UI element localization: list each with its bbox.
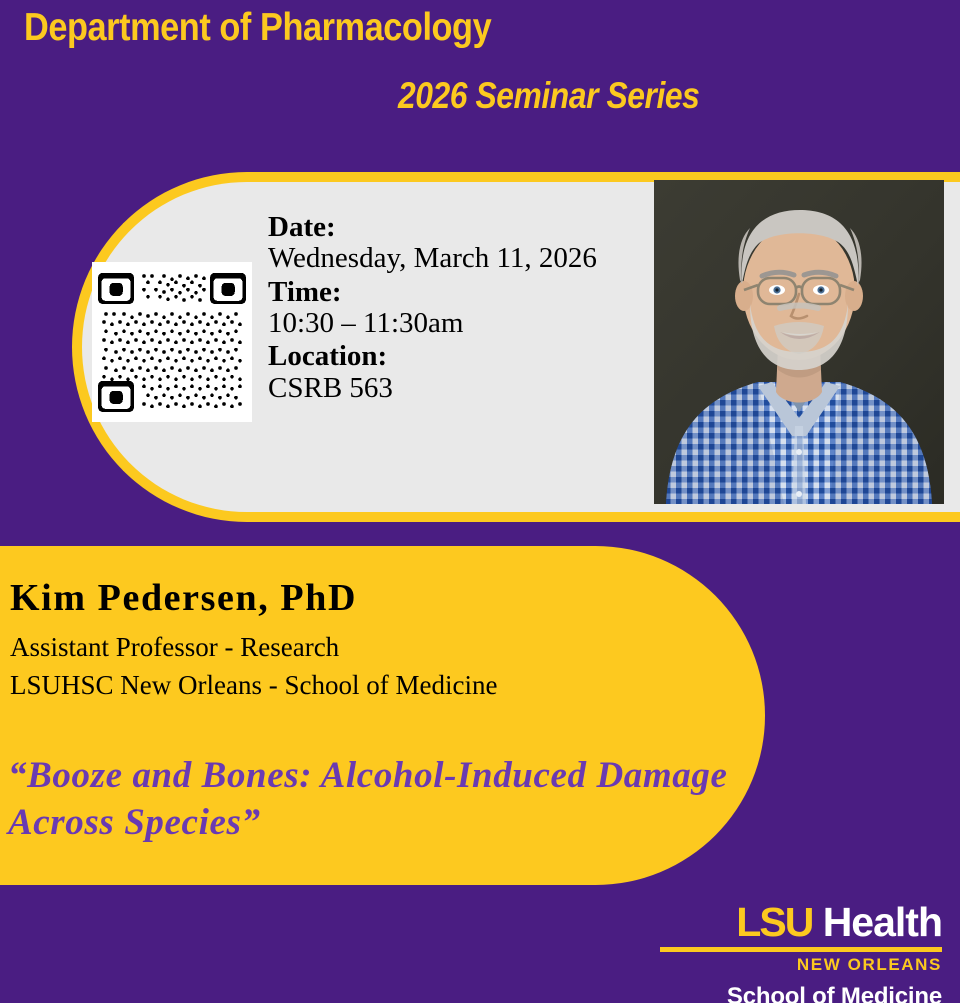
logo-wordmark: LSU Health <box>660 902 942 943</box>
speaker-headshot <box>654 180 944 504</box>
logo-divider-bar <box>660 947 942 952</box>
date-value: Wednesday, March 11, 2026 <box>268 243 598 274</box>
logo-health-text: Health <box>812 899 942 945</box>
date-label: Date: <box>268 212 598 243</box>
series-subtitle: 2026 Seminar Series <box>398 75 699 117</box>
speaker-title: Assistant Professor - Research <box>10 632 339 663</box>
speaker-name: Kim Pedersen, PhD <box>10 576 357 620</box>
page-title: Department of Pharmacology <box>24 6 491 50</box>
location-value: CSRB 563 <box>268 373 598 404</box>
logo-campus-text: NEW ORLEANS <box>660 955 942 975</box>
logo-lsu-text: LSU <box>736 899 812 945</box>
location-label: Location: <box>268 341 598 372</box>
speaker-affiliation: LSUHSC New Orleans - School of Medicine <box>10 670 497 701</box>
talk-title: “Booze and Bones: Alcohol-Induced Damage… <box>8 752 798 847</box>
seminar-poster: Department of Pharmacology 2026 Seminar … <box>0 0 960 1003</box>
lsu-health-logo: LSU Health NEW ORLEANS School of Medicin… <box>660 902 942 1003</box>
logo-school-text: School of Medicine <box>660 983 942 1003</box>
event-details: Date: Wednesday, March 11, 2026 Time: 10… <box>268 210 598 404</box>
qr-code-icon[interactable] <box>92 262 252 422</box>
time-value: 10:30 – 11:30am <box>268 308 598 339</box>
time-label: Time: <box>268 277 598 308</box>
